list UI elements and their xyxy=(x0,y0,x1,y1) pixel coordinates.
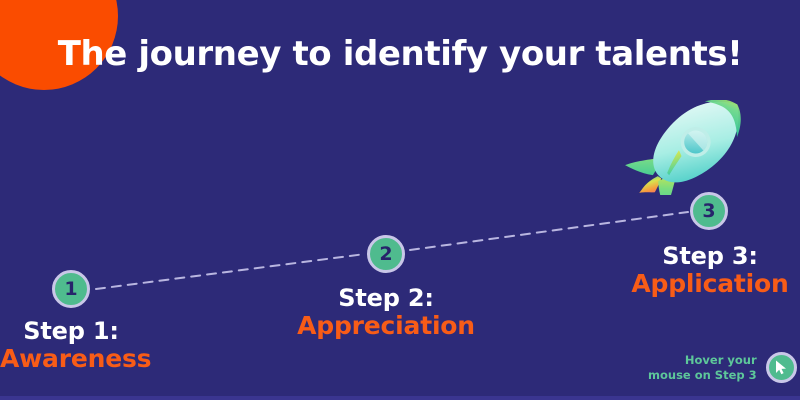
step-3-number-badge[interactable]: 3 xyxy=(690,192,728,230)
page-title: The journey to identify your talents! xyxy=(0,34,800,74)
rocket-icon xyxy=(614,100,764,195)
step-1-title: Step 1: xyxy=(0,318,142,345)
step-1-number: 1 xyxy=(64,280,77,299)
infographic-canvas: The journey to identify your talents! xyxy=(0,0,800,400)
step-1-number-badge[interactable]: 1 xyxy=(52,270,90,308)
step-3-name: Application xyxy=(620,270,800,298)
hover-hint: Hover your mouse on Step 3 xyxy=(648,352,797,383)
cursor-arrow-icon xyxy=(775,360,788,375)
step-3-number: 3 xyxy=(702,202,715,221)
step-2-title: Step 2: xyxy=(286,285,486,312)
cursor-badge[interactable] xyxy=(766,352,797,383)
step-1-labels: Step 1: Awareness xyxy=(0,318,142,373)
step-2-labels: Step 2: Appreciation xyxy=(286,285,486,340)
bottom-strip xyxy=(0,396,800,400)
step-1-name: Awareness xyxy=(0,345,142,373)
step-2-number: 2 xyxy=(379,245,392,264)
step-2-number-badge[interactable]: 2 xyxy=(367,235,405,273)
step-2-name: Appreciation xyxy=(286,312,486,340)
step-3-title: Step 3: xyxy=(620,243,800,270)
step-3-labels: Step 3: Application xyxy=(620,243,800,298)
hover-hint-text: Hover your mouse on Step 3 xyxy=(648,353,757,382)
